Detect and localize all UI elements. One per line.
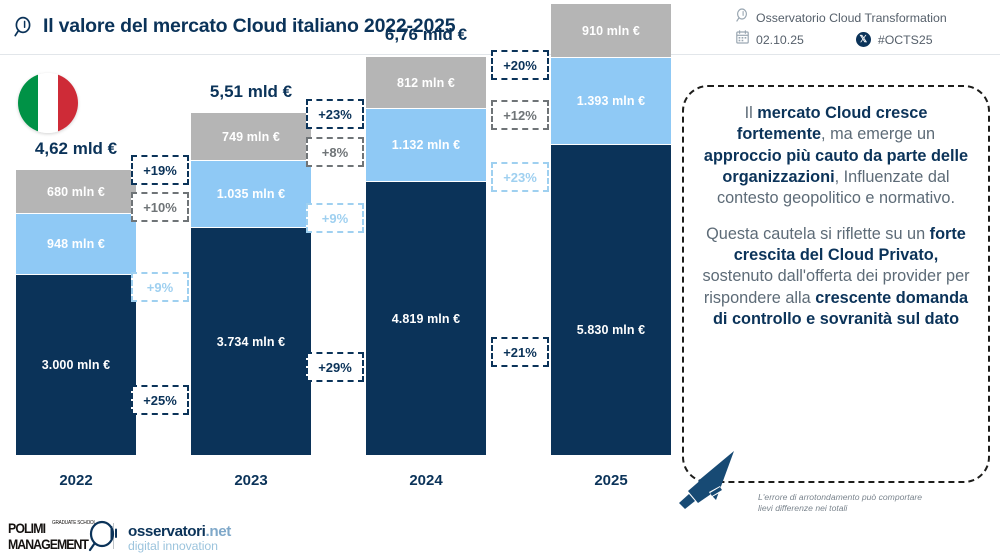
segment-phc-2022: 3.000 mln € xyxy=(16,275,136,455)
growth-badge-vpc-2022-2023: +9% xyxy=(131,272,189,302)
insight-callout: Il mercato Cloud cresce fortemente, ma e… xyxy=(682,85,990,483)
segment-vpc-2023: 1.035 mln € xyxy=(191,161,311,227)
growth-badge-vpc-2023-2024: +9% xyxy=(306,203,364,233)
callout-p1-c: , ma emerge un xyxy=(821,125,935,143)
header: Il valore del mercato Cloud italiano 202… xyxy=(0,0,1000,55)
segment-label: 948 mln € xyxy=(47,237,105,251)
year-label-2023: 2023 xyxy=(191,472,311,489)
x-twitter-icon[interactable]: 𝕏 xyxy=(856,32,871,47)
segment-vpc-2022: 948 mln € xyxy=(16,214,136,274)
year-label-2024: 2024 xyxy=(366,472,486,489)
megaphone-icon xyxy=(676,448,742,515)
observatory-row: Osservatorio Cloud Transformation xyxy=(736,8,994,27)
callout-p1-a: Il xyxy=(745,104,758,122)
segment-phc-2025: 5.830 mln € xyxy=(551,145,671,455)
growth-badge-total-2023-2024: +23% xyxy=(306,99,364,129)
footer: POLIMI GRADUATE SCHOOL MANAGEMENT osserv… xyxy=(0,516,1000,560)
insight-text: Il mercato Cloud cresce fortemente, ma e… xyxy=(700,103,972,330)
osservatori-tld: .net xyxy=(206,523,231,540)
segment-label: 5.830 mln € xyxy=(551,323,671,337)
magnifier-small-icon xyxy=(736,8,749,27)
growth-badge-total-2024-2025: +20% xyxy=(491,50,549,80)
segment-label: 910 mln € xyxy=(582,24,640,38)
rounding-note: L'errore di arrotondamento può comportar… xyxy=(758,492,933,515)
bar-total-2024: 6,76 mld € xyxy=(366,25,486,45)
callout-p2-a: Questa cautela si riflette su un xyxy=(706,225,930,243)
magnifier-icon xyxy=(14,16,34,38)
event-hashtag: #OCTS25 xyxy=(878,33,933,47)
segment-label: 3.000 mln € xyxy=(42,358,111,372)
polimi-management-line2: MANAGEMENT xyxy=(8,537,90,551)
segment-label: 1.035 mln € xyxy=(217,187,286,201)
growth-badge-total-2022-2023: +19% xyxy=(131,155,189,185)
bar-total-2023: 5,51 mld € xyxy=(191,82,311,102)
segment-vpc-2025: 1.393 mln € xyxy=(551,58,671,144)
growth-badge-dca-2024-2025: +12% xyxy=(491,100,549,130)
segment-phc-2023: 3.734 mln € xyxy=(191,228,311,455)
year-label-2022: 2022 xyxy=(16,472,136,489)
paragraph-gap xyxy=(700,210,972,224)
segment-vpc-2024: 1.132 mln € xyxy=(366,109,486,181)
magnifier-icon xyxy=(88,520,122,557)
year-label-2025: 2025 xyxy=(551,472,671,489)
segment-dca-2022: 680 mln € xyxy=(16,170,136,213)
segment-label: 812 mln € xyxy=(397,76,455,90)
segment-label: 749 mln € xyxy=(222,130,280,144)
infographic-page: Il valore del mercato Cloud italiano 202… xyxy=(0,0,1000,560)
date-hashtag-row: 02.10.25 𝕏 #OCTS25 xyxy=(736,30,994,49)
osservatori-wordmark: osservatori.net digital innovation xyxy=(128,524,231,552)
osservatori-name-line: osservatori.net xyxy=(128,524,231,540)
segment-dca-2025: 910 mln € xyxy=(551,4,671,57)
header-meta: Osservatorio Cloud Transformation xyxy=(736,8,994,49)
osservatori-logo[interactable]: osservatori.net digital innovation xyxy=(88,520,231,557)
bar-total-2022: 4,62 mld € xyxy=(16,139,136,159)
segment-label: 680 mln € xyxy=(47,185,105,199)
segment-label: 1.132 mln € xyxy=(392,138,461,152)
segment-phc-2024: 4.819 mln € xyxy=(366,182,486,455)
growth-badge-vpc-2024-2025: +23% xyxy=(491,162,549,192)
growth-badge-phc-2022-2023: +25% xyxy=(131,385,189,415)
growth-badge-phc-2023-2024: +29% xyxy=(306,352,364,382)
osservatori-tagline: digital innovation xyxy=(128,540,231,553)
growth-badge-dca-2022-2023: +10% xyxy=(131,192,189,222)
event-date: 02.10.25 xyxy=(756,33,804,47)
polimi-management-line1: POLIMI xyxy=(8,521,45,535)
segment-label: 3.734 mln € xyxy=(217,335,286,349)
observatory-name: Osservatorio Cloud Transformation xyxy=(756,11,947,25)
calendar-icon xyxy=(736,30,749,49)
segment-dca-2023: 749 mln € xyxy=(191,113,311,160)
growth-badge-phc-2024-2025: +21% xyxy=(491,337,549,367)
segment-label: 4.819 mln € xyxy=(392,312,461,326)
growth-badge-dca-2023-2024: +8% xyxy=(306,137,364,167)
segment-label: 1.393 mln € xyxy=(577,94,646,108)
segment-dca-2024: 812 mln € xyxy=(366,57,486,108)
osservatori-name: osservatori xyxy=(128,523,206,540)
stacked-bar-chart: 4,62 mld € 680 mln € 948 mln € 3.000 mln… xyxy=(0,55,672,505)
